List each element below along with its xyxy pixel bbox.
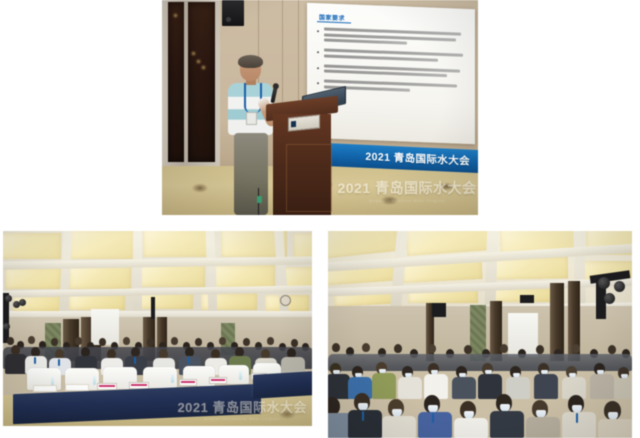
podium-panel bbox=[286, 144, 332, 212]
photo-conference-hall-wide: 2021 青岛国际水大会 Qingdao International Water… bbox=[3, 231, 312, 426]
wall-clock-icon bbox=[280, 295, 291, 306]
speaker-hair bbox=[238, 55, 263, 68]
door-reflection bbox=[202, 66, 205, 69]
door-reflection bbox=[192, 52, 195, 55]
list-item bbox=[317, 64, 467, 78]
speaker-badge bbox=[246, 112, 257, 125]
photo-keynote-speaker: 国家要求 2021 青岛国际水大会 2021 青岛国际水大会 Qingdao I… bbox=[162, 0, 478, 215]
watermark-sub-text: Qingdao International Water Congress bbox=[334, 199, 478, 203]
door-reflection bbox=[174, 14, 177, 17]
line-array-speaker-icon bbox=[604, 293, 615, 304]
ceiling-speaker-icon bbox=[432, 303, 446, 317]
name-placard bbox=[209, 377, 227, 384]
ceiling-speaker-icon bbox=[222, 0, 244, 26]
water-bottle-icon bbox=[171, 374, 174, 383]
door-reflection bbox=[197, 60, 200, 63]
water-bottle-icon bbox=[239, 371, 242, 380]
table-row bbox=[253, 371, 312, 399]
wood-door-unit bbox=[162, 0, 220, 166]
lighting-truss bbox=[151, 297, 155, 319]
coffered-ceiling bbox=[328, 231, 632, 314]
watermark-main-text: 2021 青岛国际水大会 bbox=[177, 397, 307, 416]
list-item bbox=[317, 27, 467, 47]
audience-front-rows bbox=[328, 391, 632, 438]
photo-audience-close bbox=[328, 231, 632, 438]
document-paper bbox=[33, 385, 57, 392]
podium bbox=[266, 100, 338, 215]
stage-banner-text: 2021 青岛国际水大会 bbox=[365, 149, 470, 169]
water-bottle-icon bbox=[93, 376, 96, 385]
list-item bbox=[317, 48, 467, 62]
watermark-sub-text: Qingdao International Water Congress bbox=[177, 417, 307, 421]
cable-tag bbox=[257, 196, 262, 203]
door-leaf-right bbox=[188, 2, 215, 162]
watermark-main-text: 2021 青岛国际水大会 bbox=[334, 178, 478, 198]
document-paper bbox=[65, 384, 89, 391]
line-array-speaker-icon bbox=[598, 277, 610, 289]
stage-light-icon bbox=[5, 295, 12, 302]
event-watermark: 2021 青岛国际水大会 Qingdao International Water… bbox=[177, 397, 307, 421]
door-leaf-left bbox=[168, 2, 184, 162]
name-placard bbox=[179, 379, 197, 386]
slide-title: 国家要求 bbox=[319, 12, 345, 22]
line-array-speaker-icon bbox=[614, 281, 625, 292]
coffered-ceiling bbox=[3, 231, 312, 323]
stage-light-icon bbox=[19, 299, 26, 306]
event-watermark: 2021 青岛国际水大会 Qingdao International Water… bbox=[334, 178, 478, 203]
ceiling-speaker-icon bbox=[520, 295, 534, 303]
